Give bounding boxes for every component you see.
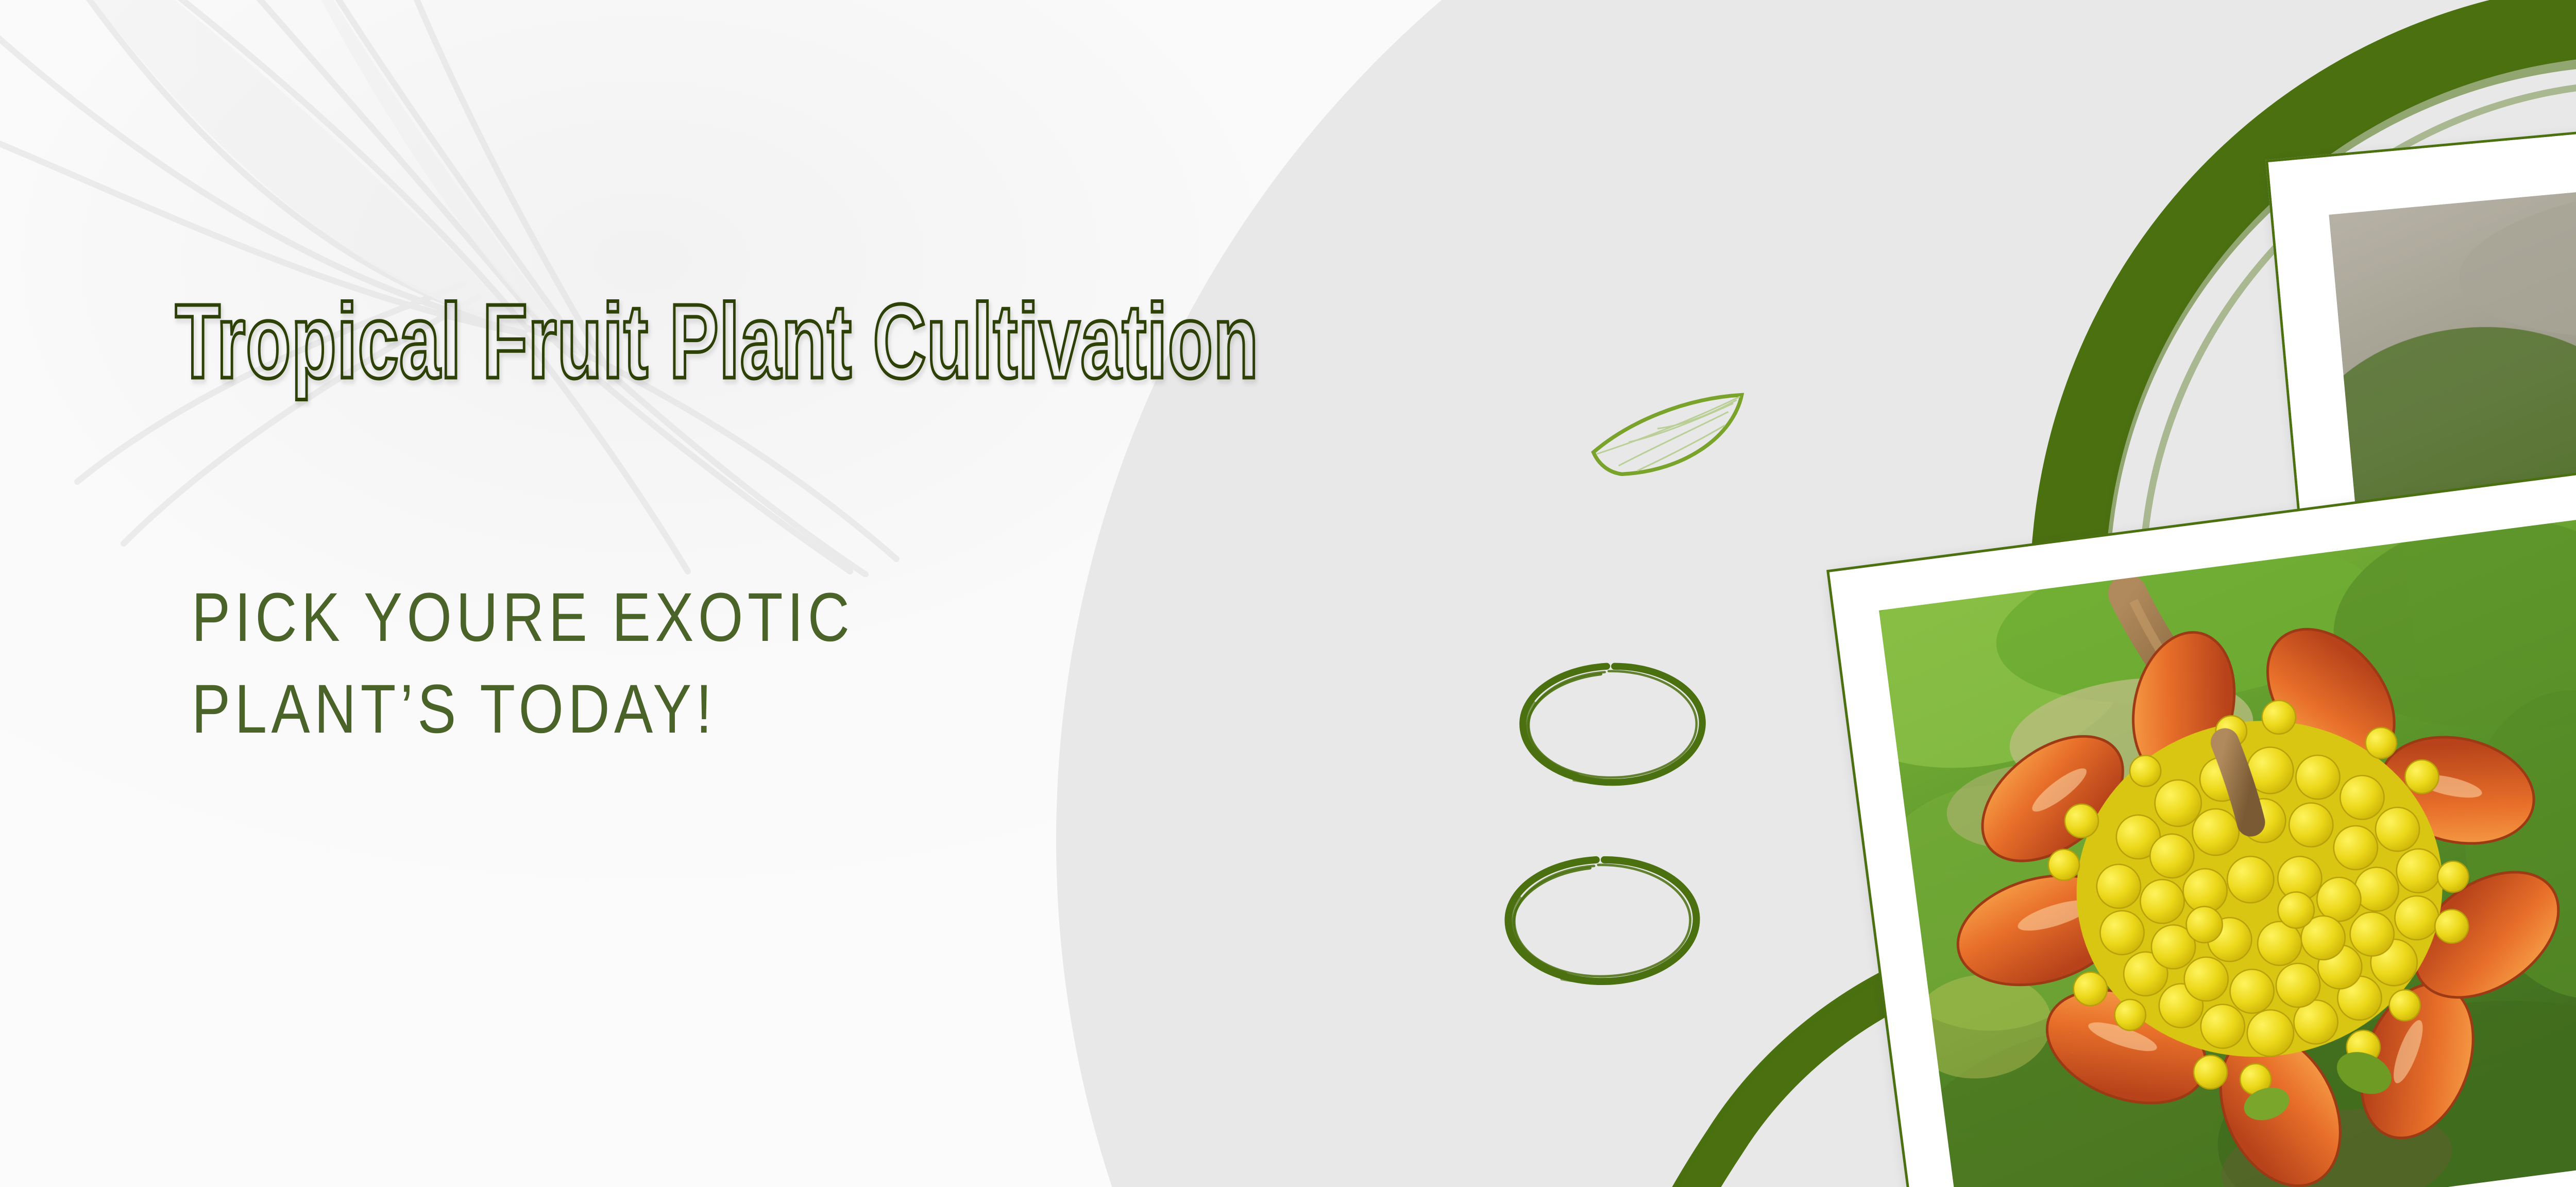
headline-wrapper: Tropical Fruit Plant Cultivation <box>175 289 1824 422</box>
page-title: Tropical Fruit Plant Cultivation <box>175 289 1329 394</box>
photo-image-pandanus-fruit <box>1879 518 2576 1187</box>
promo-banner: Tropical Fruit Plant Cultivation PICK YO… <box>0 0 2576 1187</box>
leaf-icon <box>1584 392 1754 484</box>
photo-card-pandanus-fruit[interactable] <box>1826 466 2576 1187</box>
subheadline: PICK YOURE EXOTIC PLANT’S TODAY! <box>192 572 854 755</box>
brush-ellipse-icon <box>1515 659 1710 788</box>
